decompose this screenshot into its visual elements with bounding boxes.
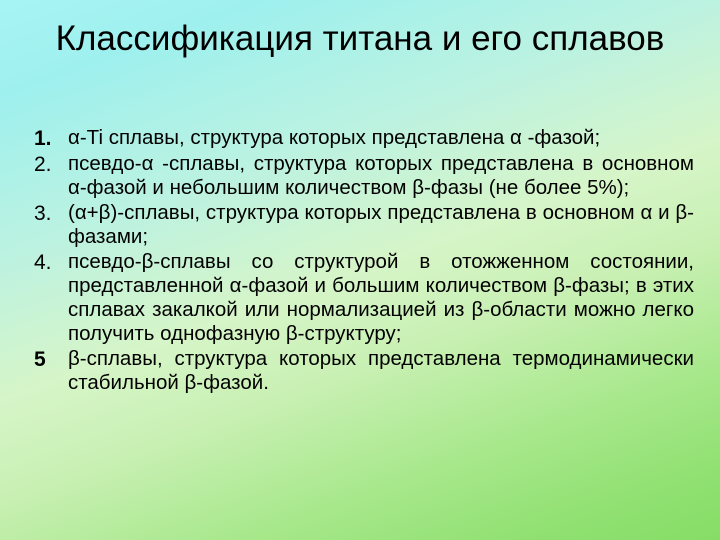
list-item: 5 β-сплавы, структура которых представле…	[34, 347, 694, 395]
list-marker: 3.	[34, 201, 68, 226]
list-marker: 1.	[34, 126, 68, 151]
slide-title: Классификация титана и его сплавов	[30, 18, 690, 61]
list-item-text: α-Ti сплавы, структура которых представл…	[68, 126, 694, 150]
list-item-text: псевдо-α -сплавы, структура которых пред…	[68, 152, 694, 200]
list-item-text: β-сплавы, структура которых представлена…	[68, 347, 694, 395]
list-marker: 5	[34, 347, 68, 372]
list-item: 1. α-Ti сплавы, структура которых предст…	[34, 126, 694, 151]
list-item: 2. псевдо-α -сплавы, структура которых п…	[34, 152, 694, 200]
slide: Классификация титана и его сплавов 1. α-…	[0, 0, 720, 540]
list-item-text: (α+β)-сплавы, структура которых представ…	[68, 201, 694, 249]
list-marker: 4.	[34, 250, 68, 275]
list-item: 3. (α+β)-сплавы, структура которых предс…	[34, 201, 694, 249]
list-item: 4. псевдо-β-сплавы со структурой в отожж…	[34, 250, 694, 346]
list-marker: 2.	[34, 152, 68, 177]
numbered-list: 1. α-Ti сплавы, структура которых предст…	[34, 126, 694, 396]
list-item-text: псевдо-β-сплавы со структурой в отожженн…	[68, 250, 694, 346]
